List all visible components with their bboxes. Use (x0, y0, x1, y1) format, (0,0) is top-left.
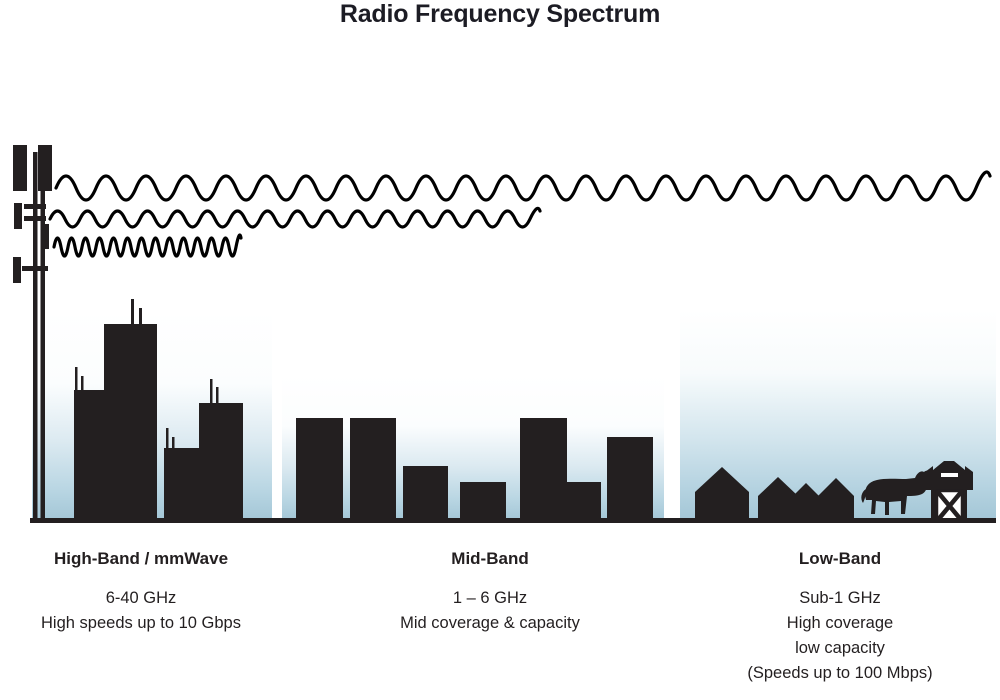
wave-short-icon (54, 235, 241, 256)
band-detail-line: low capacity (680, 636, 1000, 661)
band-caption-high: High-Band / mmWave 6-40 GHz High speeds … (0, 548, 282, 636)
building (74, 390, 104, 521)
band-detail-line: High speeds up to 10 Gbps (0, 611, 282, 636)
building-spire (210, 379, 213, 406)
tower-antenna-panel-1 (13, 145, 27, 191)
infographic-root: Radio Frequency Spectrum (0, 0, 1000, 700)
band-title-high: High-Band / mmWave (0, 548, 282, 570)
building (607, 437, 653, 521)
tower-antenna-panel-4 (41, 224, 49, 249)
building (199, 403, 243, 521)
barn-icon (925, 461, 973, 521)
band-details-high: 6-40 GHz High speeds up to 10 Gbps (0, 586, 282, 636)
tower-crossbar-1 (24, 204, 46, 209)
building-spire (166, 428, 169, 450)
tower-antenna-panel-3 (14, 203, 22, 229)
band-caption-mid: Mid-Band 1 – 6 GHz Mid coverage & capaci… (330, 548, 650, 636)
wave-long-icon (56, 172, 990, 200)
building (460, 482, 506, 521)
band-caption-low: Low-Band Sub-1 GHz High coverage low cap… (680, 548, 1000, 686)
band-title-low: Low-Band (680, 548, 1000, 570)
radio-waves (50, 172, 990, 256)
building (567, 482, 601, 521)
band-detail-line: Mid coverage & capacity (330, 611, 650, 636)
building (350, 418, 396, 521)
tower-antenna-panel-2 (38, 145, 52, 191)
building (296, 418, 343, 521)
band-details-low: Sub-1 GHz High coverage low capacity (Sp… (680, 586, 1000, 686)
band-details-mid: 1 – 6 GHz Mid coverage & capacity (330, 586, 650, 636)
building-spire (131, 299, 134, 325)
band-detail-line: (Speeds up to 100 Mbps) (680, 661, 1000, 686)
band-title-mid: Mid-Band (330, 548, 650, 570)
building (164, 448, 201, 521)
band-detail-line: High coverage (680, 611, 1000, 636)
band-detail-line: 1 – 6 GHz (330, 586, 650, 611)
ground-line (30, 518, 996, 523)
tower-crossbar-3 (22, 266, 48, 271)
building-spire (139, 308, 142, 326)
wave-medium-icon (50, 208, 540, 227)
building (520, 418, 567, 521)
band-detail-line: Sub-1 GHz (680, 586, 1000, 611)
band-detail-line: 6-40 GHz (0, 586, 282, 611)
building (104, 324, 157, 521)
tower-antenna-panel-5 (13, 257, 21, 283)
tower-crossbar-2 (24, 216, 46, 221)
building (403, 466, 448, 521)
barn-hayloft-window (941, 473, 958, 477)
